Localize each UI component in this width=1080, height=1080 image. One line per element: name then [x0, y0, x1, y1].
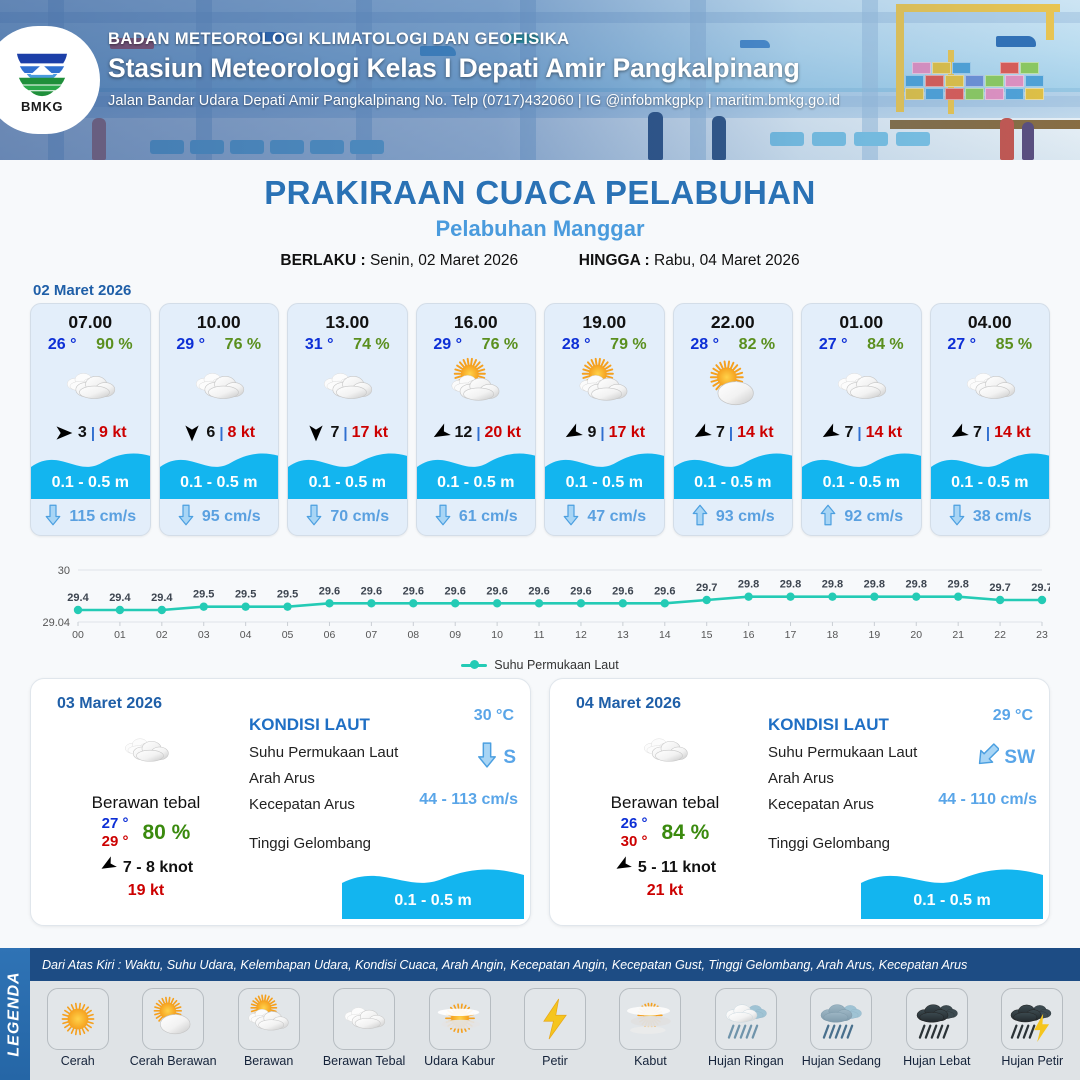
current-direction-value-row: S — [476, 741, 516, 774]
legend-icon-cerah-berawan-icon — [142, 988, 204, 1050]
card-gust: 14 kt — [866, 424, 902, 442]
legend-item-label: Berawan Tebal — [318, 1054, 410, 1068]
page-header: BMKG BADAN METEOROLOGI KLIMATOLOGI DAN G… — [0, 0, 1080, 160]
svg-text:29.4: 29.4 — [109, 592, 131, 604]
panel-temps: 27 ° 29 ° — [102, 815, 129, 850]
chart-legend-swatch-icon — [461, 664, 487, 667]
card-separator: | — [476, 425, 480, 442]
card-separator: | — [91, 425, 95, 442]
wind-direction-arrow-icon — [306, 423, 326, 443]
contact-line: Jalan Bandar Udara Depati Amir Pangkalpi… — [108, 93, 840, 109]
card-temp-hum-row: 27 ° 84 % — [802, 333, 921, 354]
forecast-card[interactable]: 13.00 31 ° 74 % 7 | 17 kt 0.1 - 0.5 m — [287, 303, 408, 536]
panel-wind-range: 7 - 8 knot — [123, 859, 193, 877]
card-gust: 14 kt — [994, 424, 1030, 442]
wind-direction-arrow-icon — [692, 423, 712, 443]
card-wave-block: 0.1 - 0.5 m — [31, 447, 150, 499]
svg-text:06: 06 — [324, 629, 336, 641]
forecast-card[interactable]: 10.00 29 ° 76 % 6 | 8 kt 0.1 - 0.5 m — [159, 303, 280, 536]
legend-item-label: Hujan Petir — [986, 1054, 1078, 1068]
wind-direction-arrow-icon — [563, 423, 583, 443]
svg-text:16: 16 — [743, 629, 755, 641]
svg-text:03: 03 — [198, 629, 210, 641]
validity-range: BERLAKU : Senin, 02 Maret 2026 HINGGA : … — [0, 252, 1080, 270]
legend-item-label: Hujan Lebat — [891, 1054, 983, 1068]
svg-text:01: 01 — [114, 629, 126, 641]
card-separator: | — [343, 425, 347, 442]
svg-text:29.5: 29.5 — [277, 589, 298, 601]
card-wind-speed: 7 — [844, 424, 853, 442]
svg-text:29.6: 29.6 — [528, 585, 549, 597]
panel-temp-min: 26 ° — [621, 815, 648, 832]
legend-item: Udara Kabur — [414, 988, 506, 1068]
card-gust: 14 kt — [737, 424, 773, 442]
card-temp-hum-row: 28 ° 82 % — [674, 333, 793, 354]
wind-direction-arrow-icon — [431, 423, 451, 443]
card-humidity: 84 % — [867, 336, 903, 354]
card-time: 07.00 — [31, 304, 150, 333]
legend-item: Cerah — [32, 988, 124, 1068]
card-humidity: 82 % — [739, 336, 775, 354]
card-wave-block: 0.1 - 0.5 m — [931, 447, 1050, 499]
port-name: Pelabuhan Manggar — [0, 216, 1080, 242]
legend-item-label: Hujan Sedang — [795, 1054, 887, 1068]
sst-chart: 3029.04000102030405060708091011121314151… — [30, 548, 1050, 656]
legend-note: Dari Atas Kiri : Waktu, Suhu Udara, Kele… — [30, 948, 1080, 981]
current-direction-arrow-icon — [819, 503, 837, 532]
card-current-row: 95 cm/s — [160, 499, 279, 535]
svg-text:02: 02 — [156, 629, 168, 641]
legend-item: Berawan Tebal — [318, 988, 410, 1068]
current-speed-value: 44 - 113 cm/s — [419, 791, 518, 809]
valid-from-value: Senin, 02 Maret 2026 — [370, 252, 518, 269]
card-wave-block: 0.1 - 0.5 m — [417, 447, 536, 499]
wave-height-label: Tinggi Gelombang — [768, 835, 1035, 852]
svg-text:05: 05 — [282, 629, 294, 641]
card-temp-hum-row: 29 ° 76 % — [160, 333, 279, 354]
card-separator: | — [857, 425, 861, 442]
current-direction-arrow-icon — [476, 741, 498, 774]
legend-icon-berawan-tebal-icon — [333, 988, 395, 1050]
svg-text:09: 09 — [449, 629, 461, 641]
card-time: 22.00 — [674, 304, 793, 333]
svg-text:18: 18 — [827, 629, 839, 641]
card-temp-hum-row: 26 ° 90 % — [31, 333, 150, 354]
card-humidity: 90 % — [96, 336, 132, 354]
card-humidity: 76 % — [482, 336, 518, 354]
panel-wave-block: 0.1 - 0.5 m — [342, 861, 524, 919]
card-wind-speed: 7 — [716, 424, 725, 442]
card-temp-hum-row: 28 ° 79 % — [545, 333, 664, 354]
card-gust: 17 kt — [352, 424, 388, 442]
panel-temp-min: 27 ° — [102, 815, 129, 832]
card-wave-height: 0.1 - 0.5 m — [931, 474, 1050, 492]
sst-value: 30 °C — [474, 707, 514, 725]
card-wind-row: 3 | 9 kt — [31, 418, 150, 447]
svg-text:00: 00 — [72, 629, 84, 641]
sst-value: 29 °C — [993, 707, 1033, 725]
svg-text:29.8: 29.8 — [864, 579, 885, 591]
current-direction-arrow-icon — [977, 741, 999, 774]
current-direction-value-row: SW — [977, 741, 1035, 774]
panel-left-column: Berawan tebal 26 ° 30 ° 84 % 5 - 11 knot… — [570, 723, 760, 900]
card-wind-speed: 7 — [973, 424, 982, 442]
card-gust: 9 kt — [99, 424, 127, 442]
current-direction-arrow-icon — [177, 503, 195, 532]
legend-item-row: Cerah Cerah Berawan Berawan Berawan Teba… — [30, 981, 1080, 1080]
card-current-row: 70 cm/s — [288, 499, 407, 535]
panel-temp-max: 30 ° — [621, 833, 648, 850]
card-wind-row: 7 | 14 kt — [674, 418, 793, 447]
panel-temp-hum-row: 27 ° 29 ° 80 % — [51, 815, 241, 850]
card-time: 16.00 — [417, 304, 536, 333]
forecast-date-label: 02 Maret 2026 — [33, 282, 1080, 299]
card-temp-hum-row: 31 ° 74 % — [288, 333, 407, 354]
wind-direction-arrow-icon — [182, 423, 202, 443]
svg-text:29.4: 29.4 — [67, 592, 89, 604]
wind-direction-arrow-icon — [614, 856, 632, 879]
legend-item-label: Cerah — [32, 1054, 124, 1068]
card-current-speed: 95 cm/s — [202, 508, 261, 526]
legend-item: Hujan Petir — [986, 988, 1078, 1068]
card-current-row: 92 cm/s — [802, 499, 921, 535]
svg-text:21: 21 — [952, 629, 964, 641]
card-weather-icon — [160, 356, 279, 418]
svg-text:17: 17 — [785, 629, 797, 641]
svg-text:29.6: 29.6 — [403, 585, 424, 597]
card-gust: 17 kt — [609, 424, 645, 442]
wave-height-label: Tinggi Gelombang — [249, 835, 516, 852]
svg-text:10: 10 — [491, 629, 503, 641]
legend-icon-hujan-ringan-icon — [715, 988, 777, 1050]
panel-weather-icon — [51, 723, 241, 779]
card-current-row: 61 cm/s — [417, 499, 536, 535]
daily-panels: 03 Maret 2026 Berawan tebal 27 ° 29 ° 80… — [0, 672, 1080, 926]
card-gust: 8 kt — [228, 424, 256, 442]
legend-icon-hujan-lebat-icon — [906, 988, 968, 1050]
forecast-card[interactable]: 19.00 28 ° 79 % 9 | 17 kt 0.1 - 0.5 m — [544, 303, 665, 536]
card-separator: | — [219, 425, 223, 442]
card-temperature: 28 ° — [562, 336, 591, 354]
daily-summary-panel[interactable]: 04 Maret 2026 Berawan tebal 26 ° 30 ° 84… — [549, 678, 1050, 926]
card-current-row: 38 cm/s — [931, 499, 1050, 535]
svg-text:22: 22 — [994, 629, 1006, 641]
card-time: 10.00 — [160, 304, 279, 333]
card-current-speed: 93 cm/s — [716, 508, 775, 526]
svg-text:30: 30 — [58, 565, 70, 577]
valid-until-value: Rabu, 04 Maret 2026 — [654, 252, 800, 269]
panel-weather-desc: Berawan tebal — [570, 793, 760, 813]
card-wave-height: 0.1 - 0.5 m — [31, 474, 150, 492]
panel-date: 03 Maret 2026 — [57, 695, 162, 713]
legend-item: Hujan Ringan — [700, 988, 792, 1068]
card-wave-height: 0.1 - 0.5 m — [417, 474, 536, 492]
card-wave-block: 0.1 - 0.5 m — [674, 447, 793, 499]
wind-direction-arrow-icon — [99, 856, 117, 879]
svg-text:29.5: 29.5 — [193, 589, 214, 601]
card-wave-block: 0.1 - 0.5 m — [160, 447, 279, 499]
panel-wave-block: 0.1 - 0.5 m — [861, 861, 1043, 919]
card-weather-icon — [674, 356, 793, 418]
card-time: 01.00 — [802, 304, 921, 333]
card-current-speed: 70 cm/s — [330, 508, 389, 526]
card-temperature: 29 ° — [176, 336, 205, 354]
valid-until-label: HINGGA : — [579, 252, 650, 269]
legend-icon-petir-icon — [524, 988, 586, 1050]
current-direction-arrow-icon — [44, 503, 62, 532]
forecast-card[interactable]: 16.00 29 ° 76 % 12 | 20 kt 0.1 - 0.5 m — [416, 303, 537, 536]
card-current-row: 47 cm/s — [545, 499, 664, 535]
svg-text:29.6: 29.6 — [570, 585, 591, 597]
card-time: 19.00 — [545, 304, 664, 333]
legend-footer: LEGENDA Dari Atas Kiri : Waktu, Suhu Uda… — [0, 948, 1080, 1080]
legend-icon-kabut-icon — [619, 988, 681, 1050]
svg-text:29.4: 29.4 — [151, 592, 173, 604]
panel-wave-height: 0.1 - 0.5 m — [342, 892, 524, 910]
card-weather-icon — [417, 356, 536, 418]
svg-text:13: 13 — [617, 629, 629, 641]
legend-item-label: Udara Kabur — [414, 1054, 506, 1068]
card-gust: 20 kt — [485, 424, 521, 442]
card-current-row: 93 cm/s — [674, 499, 793, 535]
svg-text:29.6: 29.6 — [486, 585, 507, 597]
station-name: Stasiun Meteorologi Kelas I Depati Amir … — [108, 53, 840, 84]
svg-text:07: 07 — [366, 629, 378, 641]
card-separator: | — [600, 425, 604, 442]
card-current-speed: 61 cm/s — [459, 508, 518, 526]
svg-text:29.7: 29.7 — [989, 582, 1010, 594]
agency-name: BADAN METEOROLOGI KLIMATOLOGI DAN GEOFIS… — [108, 30, 840, 49]
legend-item: Hujan Lebat — [891, 988, 983, 1068]
card-wind-row: 7 | 14 kt — [931, 418, 1050, 447]
legend-item: Kabut — [604, 988, 696, 1068]
card-time: 04.00 — [931, 304, 1050, 333]
wind-direction-arrow-icon — [820, 423, 840, 443]
svg-text:29.7: 29.7 — [1031, 582, 1050, 594]
legend-item: Berawan — [223, 988, 315, 1068]
legend-icon-cerah-icon — [47, 988, 109, 1050]
forecast-card-row: 07.00 26 ° 90 % 3 | 9 kt 0.1 - 0.5 m — [0, 303, 1080, 536]
card-wave-height: 0.1 - 0.5 m — [802, 474, 921, 492]
panel-temps: 26 ° 30 ° — [621, 815, 648, 850]
card-wind-row: 7 | 17 kt — [288, 418, 407, 447]
card-weather-icon — [545, 356, 664, 418]
card-current-speed: 115 cm/s — [69, 508, 136, 526]
card-wind-row: 9 | 17 kt — [545, 418, 664, 447]
legend-item-label: Berawan — [223, 1054, 315, 1068]
card-temperature: 27 ° — [819, 336, 848, 354]
card-temperature: 28 ° — [690, 336, 719, 354]
panel-sea-conditions: KONDISI LAUT Suhu Permukaan Laut Arah Ar… — [249, 715, 516, 852]
svg-text:11: 11 — [534, 629, 545, 641]
svg-text:29.8: 29.8 — [738, 579, 759, 591]
panel-humidity: 84 % — [661, 821, 709, 845]
card-wind-speed: 7 — [330, 424, 339, 442]
current-direction-arrow-icon — [691, 503, 709, 532]
card-wind-row: 7 | 14 kt — [802, 418, 921, 447]
forecast-card[interactable]: 04.00 27 ° 85 % 7 | 14 kt 0.1 - 0.5 m — [930, 303, 1051, 536]
forecast-card[interactable]: 07.00 26 ° 90 % 3 | 9 kt 0.1 - 0.5 m — [30, 303, 151, 536]
svg-text:29.6: 29.6 — [612, 585, 633, 597]
svg-text:29.6: 29.6 — [319, 585, 340, 597]
legend-icon-berawan-icon — [238, 988, 300, 1050]
svg-text:14: 14 — [659, 629, 671, 641]
svg-text:04: 04 — [240, 629, 252, 641]
svg-text:29.8: 29.8 — [947, 579, 968, 591]
svg-text:19: 19 — [869, 629, 881, 641]
panel-wind-row: 7 - 8 knot — [51, 856, 241, 879]
svg-text:12: 12 — [575, 629, 587, 641]
panel-humidity: 80 % — [142, 821, 190, 845]
card-wind-speed: 9 — [587, 424, 596, 442]
legend-icon-udara-kabur-icon — [429, 988, 491, 1050]
card-temp-hum-row: 29 ° 76 % — [417, 333, 536, 354]
bmkg-logo-text: BMKG — [21, 99, 63, 114]
chart-legend-label: Suhu Permukaan Laut — [494, 658, 618, 672]
panel-gust: 19 kt — [51, 882, 241, 900]
card-wave-block: 0.1 - 0.5 m — [545, 447, 664, 499]
svg-text:29.8: 29.8 — [906, 579, 927, 591]
card-wind-speed: 6 — [206, 424, 215, 442]
current-direction-arrow-icon — [562, 503, 580, 532]
card-current-row: 115 cm/s — [31, 499, 150, 535]
svg-text:08: 08 — [407, 629, 419, 641]
card-wind-speed: 12 — [455, 424, 473, 442]
legend-icon-hujan-sedang-icon — [810, 988, 872, 1050]
card-wave-height: 0.1 - 0.5 m — [545, 474, 664, 492]
legend-item-label: Cerah Berawan — [127, 1054, 219, 1068]
legend-tab: LEGENDA — [0, 948, 30, 1080]
card-wind-row: 12 | 20 kt — [417, 418, 536, 447]
svg-text:29.6: 29.6 — [361, 585, 382, 597]
card-wave-block: 0.1 - 0.5 m — [288, 447, 407, 499]
svg-text:29.5: 29.5 — [235, 589, 256, 601]
current-direction-value: SW — [1004, 747, 1035, 769]
card-current-speed: 38 cm/s — [973, 508, 1032, 526]
sst-chart-svg: 3029.04000102030405060708091011121314151… — [30, 548, 1050, 648]
panel-weather-icon — [570, 723, 760, 779]
legend-item: Hujan Sedang — [795, 988, 887, 1068]
current-direction-value: S — [503, 747, 516, 769]
panel-temp-hum-row: 26 ° 30 ° 84 % — [570, 815, 760, 850]
title-section: PRAKIRAAN CUACA PELABUHAN Pelabuhan Mang… — [0, 160, 1080, 270]
panel-wind-range: 5 - 11 knot — [638, 859, 716, 877]
card-wind-speed: 3 — [78, 424, 87, 442]
card-humidity: 85 % — [996, 336, 1032, 354]
card-humidity: 76 % — [225, 336, 261, 354]
current-speed-value: 44 - 110 cm/s — [938, 791, 1037, 809]
card-temp-hum-row: 27 ° 85 % — [931, 333, 1050, 354]
svg-text:29.8: 29.8 — [780, 579, 801, 591]
legend-item: Cerah Berawan — [127, 988, 219, 1068]
current-direction-arrow-icon — [434, 503, 452, 532]
current-direction-arrow-icon — [948, 503, 966, 532]
card-humidity: 79 % — [610, 336, 646, 354]
svg-text:23: 23 — [1036, 629, 1048, 641]
forecast-card[interactable]: 22.00 28 ° 82 % 7 | 14 kt 0.1 - 0.5 m 93… — [673, 303, 794, 536]
chart-legend: Suhu Permukaan Laut — [0, 658, 1080, 672]
svg-text:20: 20 — [910, 629, 922, 641]
card-separator: | — [986, 425, 990, 442]
panel-date: 04 Maret 2026 — [576, 695, 681, 713]
svg-text:29.6: 29.6 — [654, 585, 675, 597]
card-separator: | — [729, 425, 733, 442]
panel-temp-max: 29 ° — [102, 833, 129, 850]
card-weather-icon — [931, 356, 1050, 418]
card-temperature: 29 ° — [433, 336, 462, 354]
svg-text:29.04: 29.04 — [42, 617, 70, 629]
panel-wind-row: 5 - 11 knot — [570, 856, 760, 879]
card-humidity: 74 % — [353, 336, 389, 354]
svg-text:29.6: 29.6 — [445, 585, 466, 597]
legend-item-label: Kabut — [604, 1054, 696, 1068]
legend-item-label: Hujan Ringan — [700, 1054, 792, 1068]
card-wave-height: 0.1 - 0.5 m — [160, 474, 279, 492]
daily-summary-panel[interactable]: 03 Maret 2026 Berawan tebal 27 ° 29 ° 80… — [30, 678, 531, 926]
card-temperature: 31 ° — [305, 336, 334, 354]
card-time: 13.00 — [288, 304, 407, 333]
panel-wave-height: 0.1 - 0.5 m — [861, 892, 1043, 910]
card-weather-icon — [802, 356, 921, 418]
card-wave-height: 0.1 - 0.5 m — [288, 474, 407, 492]
header-text-block: BADAN METEOROLOGI KLIMATOLOGI DAN GEOFIS… — [108, 30, 840, 109]
valid-from-label: BERLAKU : — [280, 252, 365, 269]
legend-icon-hujan-petir-icon — [1001, 988, 1063, 1050]
panel-weather-desc: Berawan tebal — [51, 793, 241, 813]
card-wave-height: 0.1 - 0.5 m — [674, 474, 793, 492]
svg-text:29.7: 29.7 — [696, 582, 717, 594]
panel-gust: 21 kt — [570, 882, 760, 900]
card-wave-block: 0.1 - 0.5 m — [802, 447, 921, 499]
card-temperature: 26 ° — [48, 336, 77, 354]
card-current-speed: 47 cm/s — [587, 508, 646, 526]
svg-text:15: 15 — [701, 629, 713, 641]
legend-item: Petir — [509, 988, 601, 1068]
forecast-card[interactable]: 01.00 27 ° 84 % 7 | 14 kt 0.1 - 0.5 m — [801, 303, 922, 536]
card-temperature: 27 ° — [947, 336, 976, 354]
current-direction-arrow-icon — [305, 503, 323, 532]
page-title: PRAKIRAAN CUACA PELABUHAN — [0, 174, 1080, 212]
card-weather-icon — [31, 356, 150, 418]
panel-sea-conditions: KONDISI LAUT Suhu Permukaan Laut Arah Ar… — [768, 715, 1035, 852]
wind-direction-arrow-icon — [54, 423, 74, 443]
card-current-speed: 92 cm/s — [844, 508, 903, 526]
svg-text:29.8: 29.8 — [822, 579, 843, 591]
card-weather-icon — [288, 356, 407, 418]
panel-left-column: Berawan tebal 27 ° 29 ° 80 % 7 - 8 knot … — [51, 723, 241, 900]
card-wind-row: 6 | 8 kt — [160, 418, 279, 447]
bmkg-logo-mark — [13, 46, 71, 98]
legend-item-label: Petir — [509, 1054, 601, 1068]
legend-tab-label: LEGENDA — [6, 971, 24, 1056]
wind-direction-arrow-icon — [949, 423, 969, 443]
